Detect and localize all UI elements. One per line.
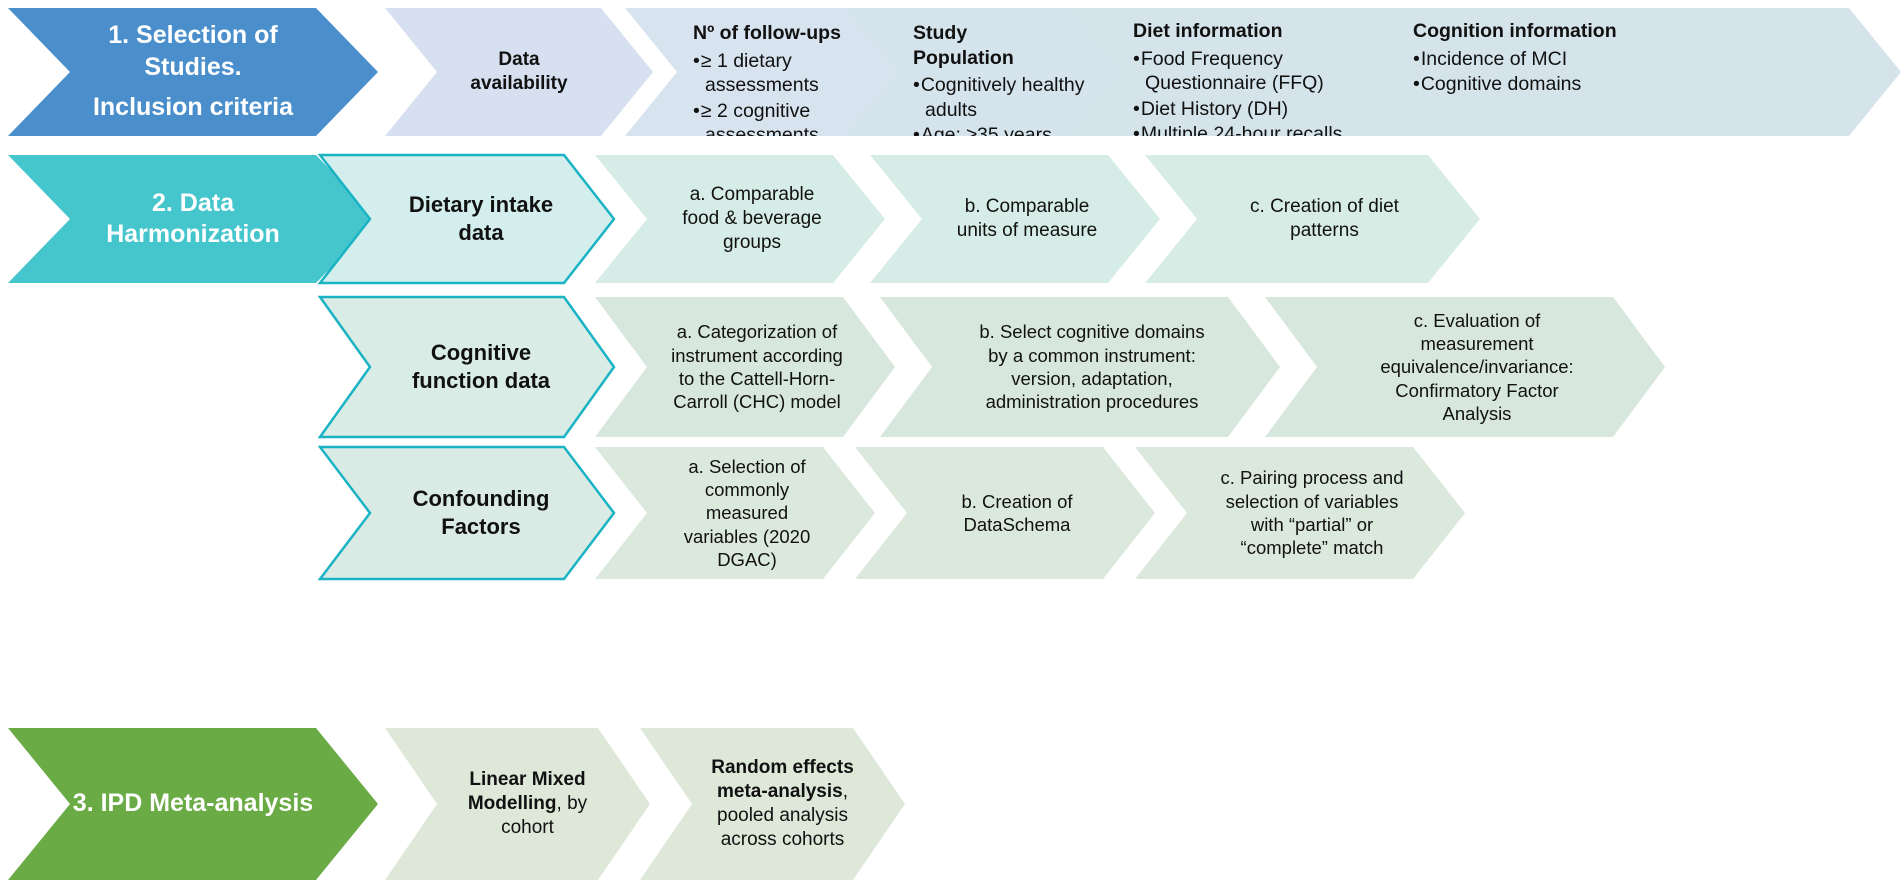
step-pairing-process-and-selection-of-variables: c. Pairing process and selection of vari… (1135, 447, 1465, 579)
step-random-effects-meta-analysis: Random effects meta-analysis, pooled ana… (640, 728, 905, 880)
bullet-item: Cognitive domains (1413, 72, 1891, 97)
bullet-item: Food Frequency Questionnaire (FFQ) (1133, 47, 1395, 96)
category-confounding-factors-label: Confounding Factors (318, 485, 616, 540)
category-cognitive-function-data-label: Cognitive function data (318, 339, 616, 394)
stage-3-ipd-meta-analysis: 3. IPD Meta-analysis (8, 728, 378, 880)
row-ipd-meta-analysis: 3. IPD Meta-analysis Linear Mixed Modell… (0, 728, 1902, 880)
row-harmonization-cognitive: Cognitive function data a. Categorizatio… (0, 297, 1902, 437)
bullet-item: ≥ 1 dietary assessments (693, 49, 895, 98)
step-select-cognitive-domains: b. Select cognitive domains by a common … (880, 297, 1280, 437)
step-diet-information-title: Diet information (1133, 19, 1395, 44)
step-cognition-information-title: Cognition information (1413, 19, 1891, 44)
step-linear-mixed-modelling: Linear Mixed Modelling, by cohort (385, 728, 650, 880)
step-cognition-information: Cognition information Incidence of MCI C… (1345, 8, 1901, 136)
stage-3-label: 3. IPD Meta-analysis (8, 788, 378, 820)
step-evaluation-of-measurement-equivalence: c. Evaluation of measurement equivalence… (1265, 297, 1665, 437)
step-random-effects-meta-analysis-bold: Random effects meta-analysis (711, 757, 854, 802)
stage-1-line-4: Inclusion criteria (14, 92, 372, 124)
stage-1-line-1: 1. Selection of (14, 20, 372, 52)
category-cognitive-function-data: Cognitive function data (318, 295, 616, 439)
step-comparable-units-of-measure-label: b. Comparable units of measure (870, 195, 1160, 243)
step-comparable-food-beverage-groups: a. Comparable food & beverage groups (595, 155, 885, 283)
step-cognition-information-bullets: Incidence of MCI Cognitive domains (1413, 47, 1891, 97)
row-selection-of-studies: 1. Selection of Studies. Inclusion crite… (0, 8, 1902, 136)
step-linear-mixed-modelling-label: Linear Mixed Modelling, by cohort (385, 768, 650, 840)
step-categorization-of-instrument: a. Categorization of instrument accordin… (595, 297, 895, 437)
step-select-cognitive-domains-label: b. Select cognitive domains by a common … (880, 320, 1280, 413)
step-random-effects-meta-analysis-label: Random effects meta-analysis, pooled ana… (640, 756, 905, 852)
step-creation-of-diet-patterns-label: c. Creation of diet patterns (1145, 195, 1480, 243)
stage-1-line-2: Studies. (14, 52, 372, 84)
step-selection-of-commonly-measured-variables: a. Selection of commonly measured variab… (595, 447, 875, 579)
step-evaluation-of-measurement-equivalence-label: c. Evaluation of measurement equivalence… (1265, 309, 1665, 425)
step-creation-of-dataschema-label: b. Creation of DataSchema (855, 490, 1155, 537)
bullet-item: Incidence of MCI (1413, 47, 1891, 72)
step-data-availability: Data availability (385, 8, 653, 136)
step-pairing-process-and-selection-of-variables-label: c. Pairing process and selection of vari… (1135, 466, 1465, 559)
process-flow-diagram: 1. Selection of Studies. Inclusion crite… (0, 0, 1902, 887)
category-dietary-intake-data-label: Dietary intake data (318, 191, 616, 246)
row-harmonization-confounders: Confounding Factors a. Selection of comm… (0, 447, 1902, 579)
bullet-item: Diet History (DH) (1133, 97, 1395, 122)
step-study-population-bullets: Cognitively healthy adults Age: ≥35 year… (913, 73, 1115, 148)
step-data-availability-label: Data availability (385, 48, 653, 96)
stage-1-selection-of-studies: 1. Selection of Studies. Inclusion crite… (8, 8, 378, 136)
category-dietary-intake-data: Dietary intake data (318, 153, 616, 285)
step-categorization-of-instrument-label: a. Categorization of instrument accordin… (595, 320, 895, 413)
category-confounding-factors: Confounding Factors (318, 445, 616, 581)
step-comparable-food-beverage-groups-label: a. Comparable food & beverage groups (595, 183, 885, 255)
step-creation-of-diet-patterns: c. Creation of diet patterns (1145, 155, 1480, 283)
step-creation-of-dataschema: b. Creation of DataSchema (855, 447, 1155, 579)
row-data-harmonization-dietary: 2. Data Harmonization Dietary intake dat… (0, 155, 1902, 283)
step-comparable-units-of-measure: b. Comparable units of measure (870, 155, 1160, 283)
step-selection-of-commonly-measured-variables-label: a. Selection of commonly measured variab… (595, 455, 875, 571)
